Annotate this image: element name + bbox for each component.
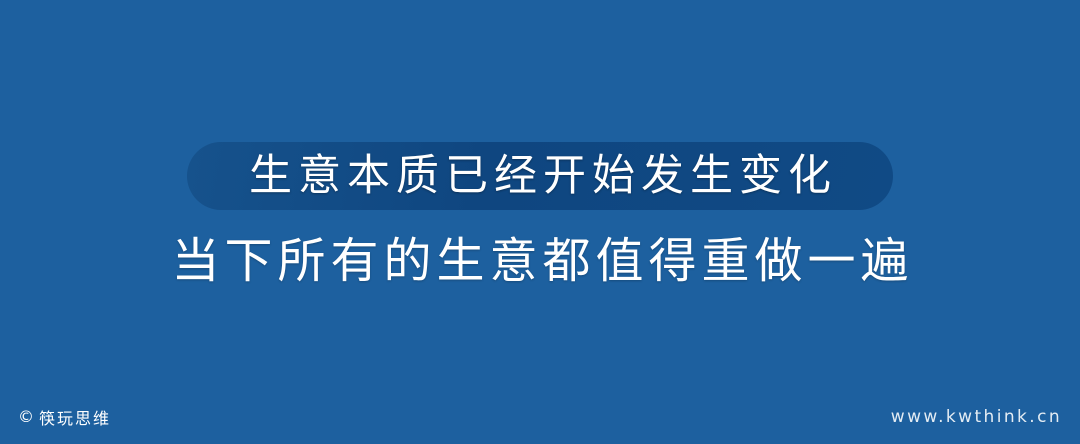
brand-name: 筷玩思维	[39, 405, 111, 429]
headline-primary-text: 生意本质已经开始发生变化	[243, 155, 837, 198]
copyright-icon: ©	[18, 409, 36, 425]
banner-footer: © 筷玩思维 www.kwthink.cn	[0, 390, 1080, 444]
headline-pill: 生意本质已经开始发生变化	[187, 142, 893, 210]
headline-block: 生意本质已经开始发生变化 当下所有的生意都值得重做一遍	[0, 142, 1080, 285]
copyright-credit: © 筷玩思维	[18, 405, 111, 429]
headline-secondary-text: 当下所有的生意都值得重做一遍	[166, 237, 913, 285]
subline-row: 当下所有的生意都值得重做一遍	[0, 237, 1080, 285]
site-url-text: www.kwthink.cn	[891, 407, 1062, 427]
pill-row: 生意本质已经开始发生变化	[0, 142, 1080, 210]
promo-banner: 生意本质已经开始发生变化 当下所有的生意都值得重做一遍 © 筷玩思维 www.k…	[0, 0, 1080, 444]
